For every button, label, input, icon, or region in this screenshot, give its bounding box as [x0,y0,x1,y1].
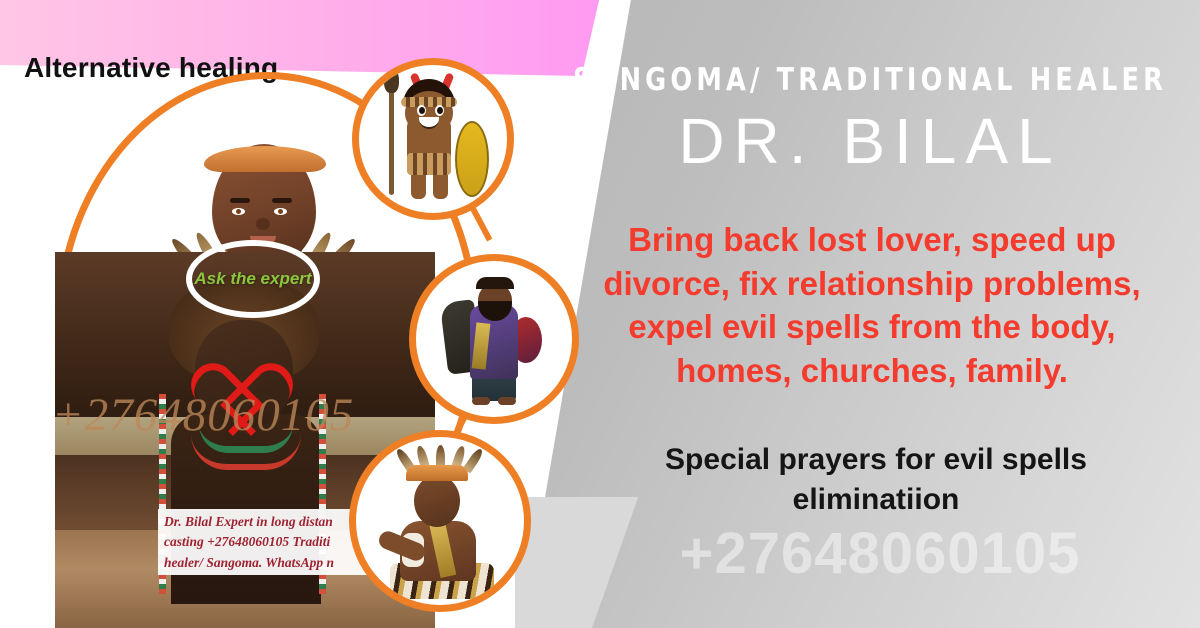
shield-icon [455,121,489,197]
healer-name: DR. BILAL [540,104,1200,178]
portrait-eyebrow [272,198,292,203]
thumbnail-zulu-warrior[interactable] [352,58,514,220]
warrior-skirt [407,153,451,175]
right-text-column: SANGOMA/ TRADITIONAL HEALER DR. BILAL Br… [540,0,1200,628]
phone-watermark: +27648060105 [580,520,1180,587]
warrior-eye [417,105,426,116]
warrior-leg [433,171,448,199]
services-line: divorce, fix relationship problems, [566,262,1178,306]
services-line: expel evil spells from the body, [566,305,1178,349]
warrior-headband [401,97,457,107]
services-line: Bring back lost lover, speed up [566,218,1178,262]
warrior-eye [435,105,444,116]
photo-watermark-phone: +27648060105 [52,388,354,442]
portrait-eye [274,208,287,215]
sangoma-crown [406,465,468,481]
spear-icon [389,75,394,195]
prayers-line: eliminatiion [586,480,1166,520]
figure-foot [498,397,516,405]
portrait-eye [232,208,245,215]
portrait-eyebrow [230,198,250,203]
portrait-nose [256,218,270,230]
prayers-line: Special prayers for evil spells [586,440,1166,480]
poster-canvas: Alternative healing [0,0,1200,628]
warrior-leg [411,171,426,199]
figure-cap [476,277,514,289]
figure-foot [472,397,490,405]
sangoma-head [414,475,460,527]
kicker-text: SANGOMA/ TRADITIONAL HEALER [566,62,1173,98]
services-line: homes, churches, family. [566,349,1178,393]
prayers-text: Special prayers for evil spells eliminat… [586,440,1166,520]
ask-the-expert-bubble: Ask the expert [186,240,320,318]
services-text: Bring back lost lover, speed up divorce,… [566,218,1178,392]
portrait-headband [204,146,326,172]
spear-tip-icon [384,67,399,93]
thumbnail-kneeling-sangoma[interactable] [349,430,531,612]
